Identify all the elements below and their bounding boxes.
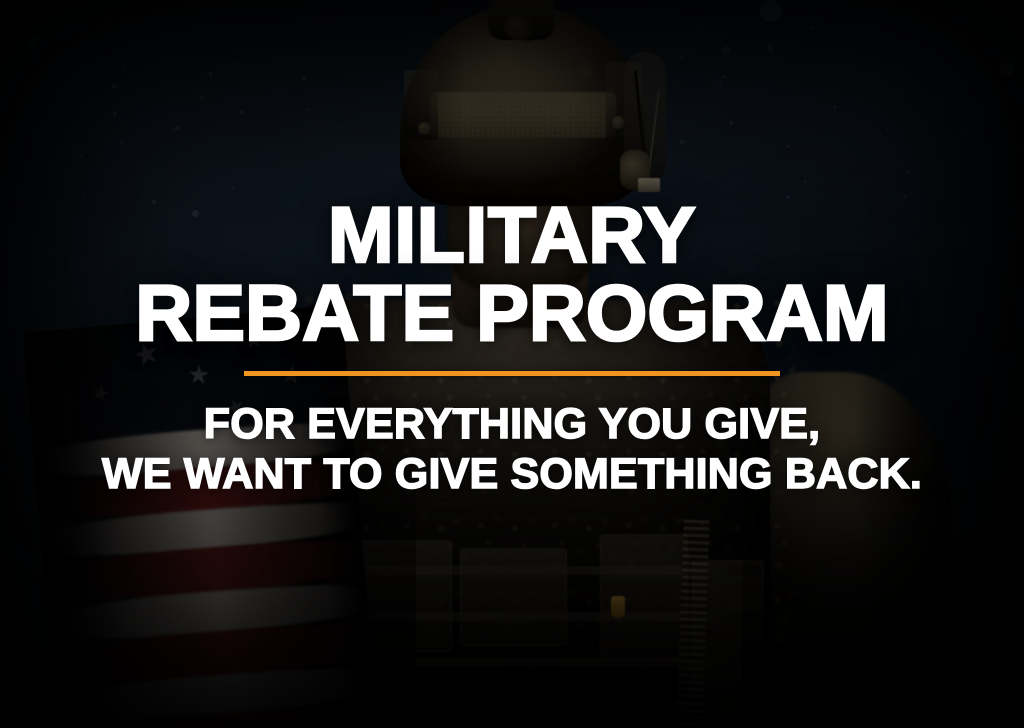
- page-title: MILITARY REBATE PROGRAM: [135, 196, 888, 352]
- headline-line-2: REBATE PROGRAM: [135, 268, 888, 357]
- banner-subheadline: FOR EVERYTHING YOU GIVE, WE WANT TO GIVE…: [102, 400, 922, 500]
- subheadline-line-1: FOR EVERYTHING YOU GIVE,: [204, 400, 820, 448]
- subheadline-line-2: WE WANT TO GIVE SOMETHING BACK.: [102, 450, 922, 500]
- headline-line-1: MILITARY: [328, 190, 696, 279]
- banner-content: MILITARY REBATE PROGRAM FOR EVERYTHING Y…: [0, 0, 1024, 728]
- orange-divider-rule: [244, 371, 780, 376]
- military-rebate-banner: ★ ★ ★ ★ ★ ★ MILITARY REBATE PROGRAM FOR …: [0, 0, 1024, 728]
